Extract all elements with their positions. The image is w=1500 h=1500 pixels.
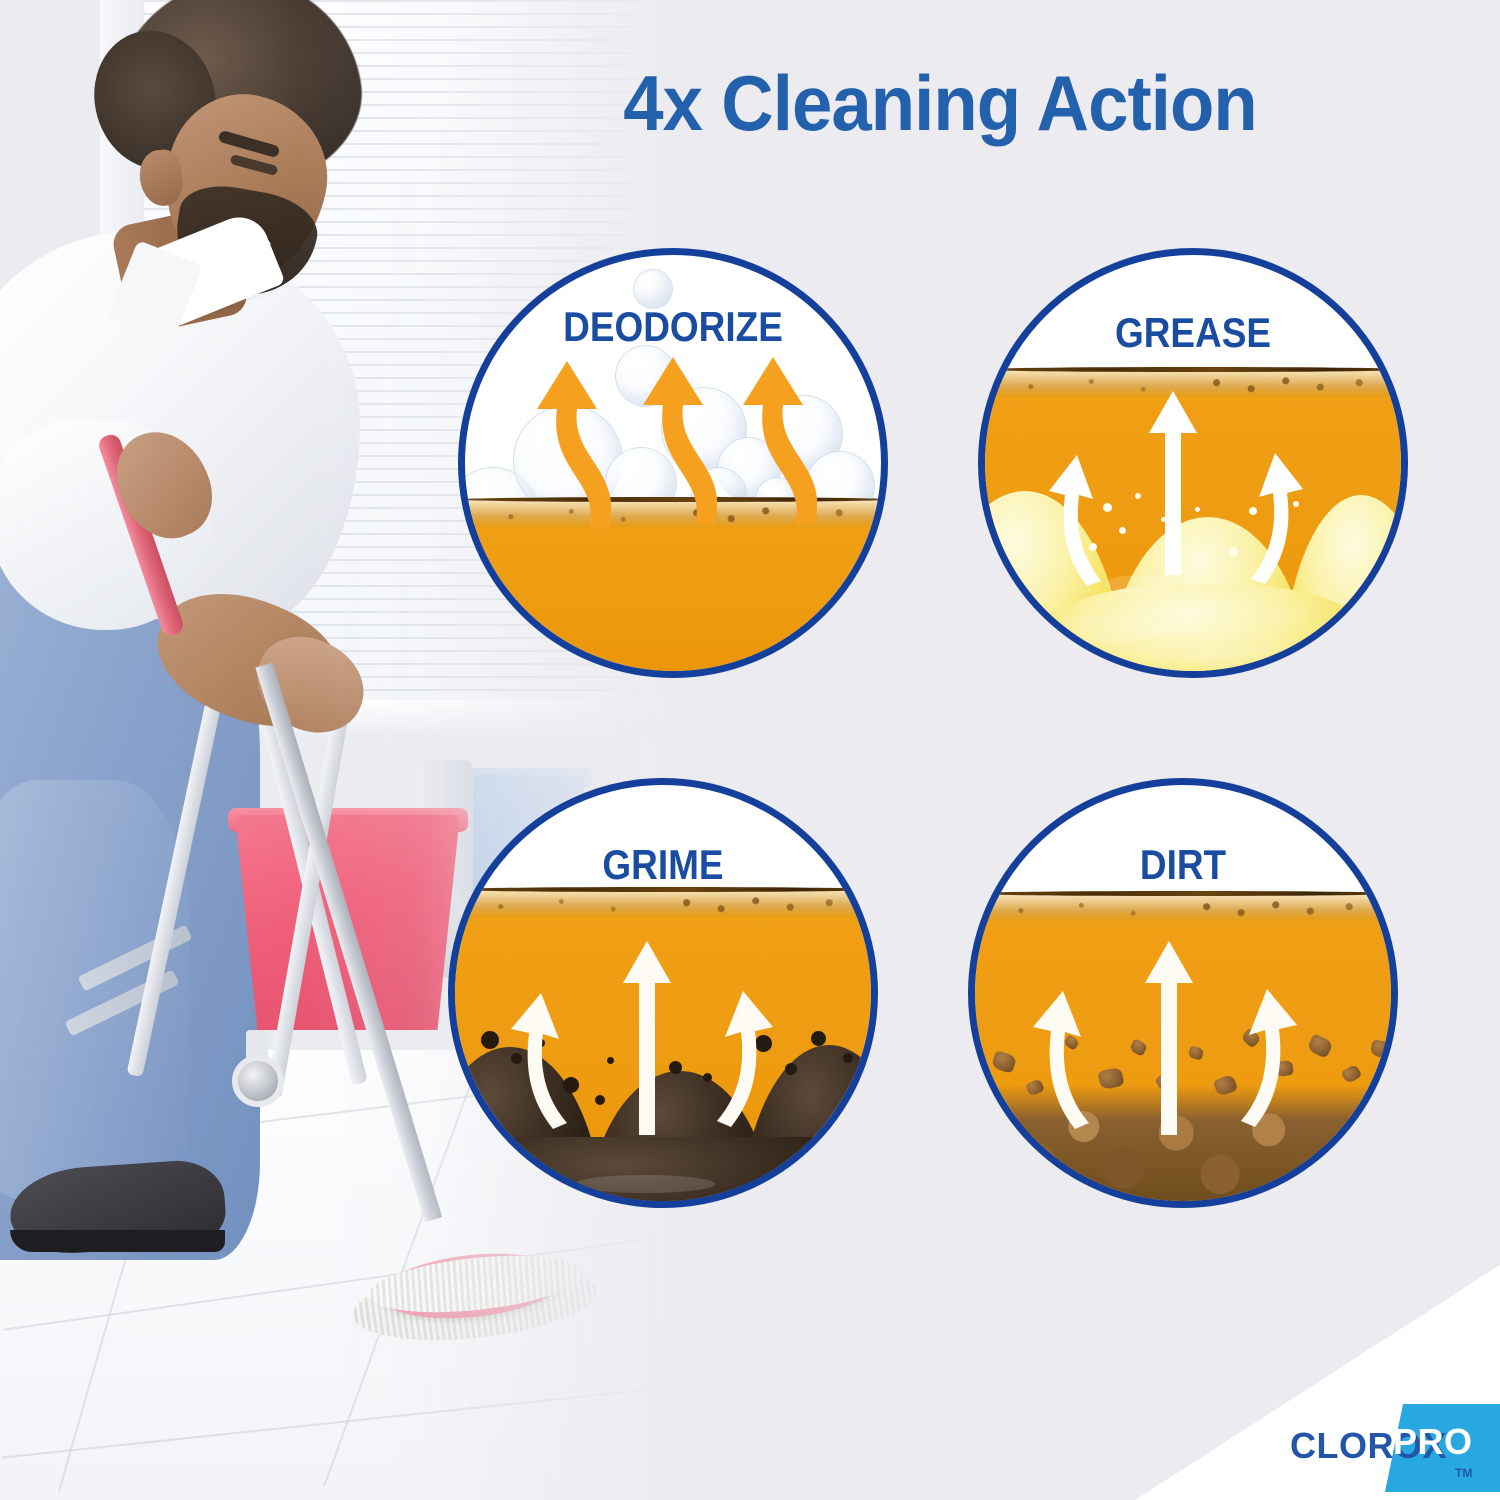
soil-crust xyxy=(449,891,878,917)
lift-arrow-icon xyxy=(1043,451,1105,586)
shoe-sole xyxy=(10,1230,225,1252)
lift-arrow-icon xyxy=(1027,987,1093,1129)
grime-speck xyxy=(607,1057,614,1064)
trademark-symbol: TM xyxy=(1455,1466,1472,1480)
feature-label-grime: GRIME xyxy=(480,841,846,889)
grime-speck xyxy=(595,1095,605,1105)
feature-circle-deodorize: DEODORIZE xyxy=(458,248,888,678)
lift-arrow-icon xyxy=(1145,385,1201,575)
grime-speck xyxy=(843,1053,853,1063)
soil-crust xyxy=(969,895,1398,921)
grime-speck xyxy=(703,1073,712,1082)
grime-speck xyxy=(481,1031,499,1049)
lift-arrow-icon xyxy=(1247,449,1309,584)
feature-label-dirt: DIRT xyxy=(1000,841,1366,889)
grime-speck xyxy=(785,1063,797,1075)
deodorize-arrow-icon xyxy=(633,347,717,527)
cart-caster-wheel xyxy=(232,1055,284,1107)
feature-label-deodorize: DEODORIZE xyxy=(490,303,856,351)
lift-arrow-icon xyxy=(619,935,675,1135)
cleaning-liquid xyxy=(461,513,888,678)
brand-name-pro: PRO xyxy=(1393,1424,1473,1460)
feature-label-grease: GREASE xyxy=(1010,309,1376,357)
lift-arrow-icon xyxy=(505,989,571,1129)
feature-circle-dirt: DIRT xyxy=(968,778,1398,1208)
deodorize-arrow-icon xyxy=(527,351,611,531)
lift-arrow-icon xyxy=(1141,935,1197,1135)
soil-line xyxy=(979,367,1408,372)
hero-photo xyxy=(0,0,700,1500)
page-title: 4x Cleaning Action xyxy=(466,58,1415,149)
grime-pool xyxy=(448,1137,878,1208)
lift-arrow-icon xyxy=(1237,985,1303,1127)
deodorize-arrow-icon xyxy=(733,347,817,527)
feature-circle-grime: GRIME xyxy=(448,778,878,1208)
lift-arrow-icon xyxy=(713,987,779,1127)
feature-circle-grease: GREASE xyxy=(978,248,1408,678)
grime-speck xyxy=(811,1031,826,1046)
soil-line xyxy=(969,891,1398,896)
